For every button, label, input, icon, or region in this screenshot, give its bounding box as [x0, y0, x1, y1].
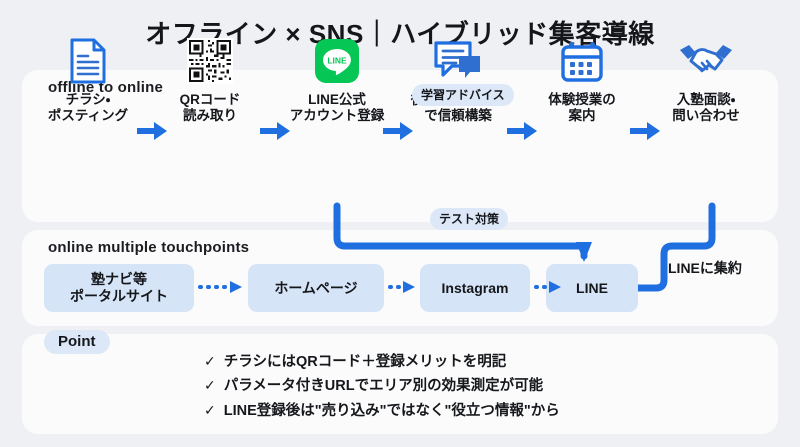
flow-step-label: QRコード 読み取り: [180, 92, 241, 125]
flow-arrow-1: [137, 122, 167, 140]
flow-step-qr[interactable]: QRコード 読み取り: [156, 36, 264, 125]
flow-step-label: LINE公式 アカウント登録: [290, 92, 385, 125]
bullet-text: チラシにはQRコード＋登録メリットを明記: [224, 351, 506, 374]
list-item: ✓ パラメータ付きURLでエリア別の効果測定が可能: [204, 374, 560, 398]
calendar-icon: [559, 36, 605, 86]
handshake-icon: [678, 36, 734, 86]
bullet-text: LINE登録後は"売り込み"ではなく"役立つ情報"から: [224, 400, 560, 423]
flow-step-flyer[interactable]: チラシ・ ポスティング: [34, 36, 142, 125]
flow-step-trial-class[interactable]: 体験授業の 案内: [528, 36, 636, 125]
list-item: ✓ チラシにはQRコード＋登録メリットを明記: [204, 350, 560, 374]
flow-arrow-5: [630, 122, 660, 140]
chat-bubbles-icon: [432, 36, 484, 86]
flow-arrow-4: [507, 122, 537, 140]
flow-step-label: 入塾面談・ 問い合わせ: [672, 92, 740, 125]
badge-test-prep: テスト対策: [430, 208, 508, 230]
list-item: ✓ LINE登録後は"売り込み"ではなく"役立つ情報"から: [204, 399, 560, 423]
online-section-label: online multiple touchpoints: [48, 239, 249, 256]
dotted-arrow-1: [198, 280, 244, 294]
flow-step-line-register[interactable]: LINE LINE公式 アカウント登録: [283, 36, 391, 125]
check-icon: ✓: [204, 374, 216, 397]
bullet-text: パラメータ付きURLでエリア別の効果測定が可能: [224, 375, 543, 398]
dotted-arrow-3: [534, 280, 562, 294]
flow-step-interview[interactable]: 入塾面談・ 問い合わせ: [652, 36, 760, 125]
qr-code-icon: [187, 36, 233, 86]
line-logo-icon: LINE: [315, 36, 359, 86]
touchpoint-portal-site[interactable]: 塾ナビ等 ポータルサイト: [44, 264, 194, 312]
check-icon: ✓: [204, 399, 216, 422]
check-icon: ✓: [204, 350, 216, 373]
flow-step-label: チラシ・ ポスティング: [48, 92, 128, 125]
touchpoint-homepage[interactable]: ホームページ: [248, 264, 384, 312]
touchpoint-instagram[interactable]: Instagram: [420, 264, 530, 312]
flow-arrow-3: [383, 122, 413, 140]
flow-arrow-2: [260, 122, 290, 140]
document-icon: [68, 36, 108, 86]
svg-text:LINE: LINE: [327, 56, 347, 66]
badge-learning-advice: 学習アドバイス: [412, 84, 514, 106]
point-bullet-list: ✓ チラシにはQRコード＋登録メリットを明記 ✓ パラメータ付きURLでエリア別…: [204, 350, 560, 423]
flow-step-info-delivery[interactable]: 役立つ情報配信 で信頼構築: [404, 36, 512, 125]
converge-to-line-label: LINEに集約: [668, 258, 742, 278]
badge-point: Point: [44, 330, 110, 354]
flow-step-label: 体験授業の 案内: [548, 92, 616, 125]
dotted-arrow-2: [388, 280, 416, 294]
